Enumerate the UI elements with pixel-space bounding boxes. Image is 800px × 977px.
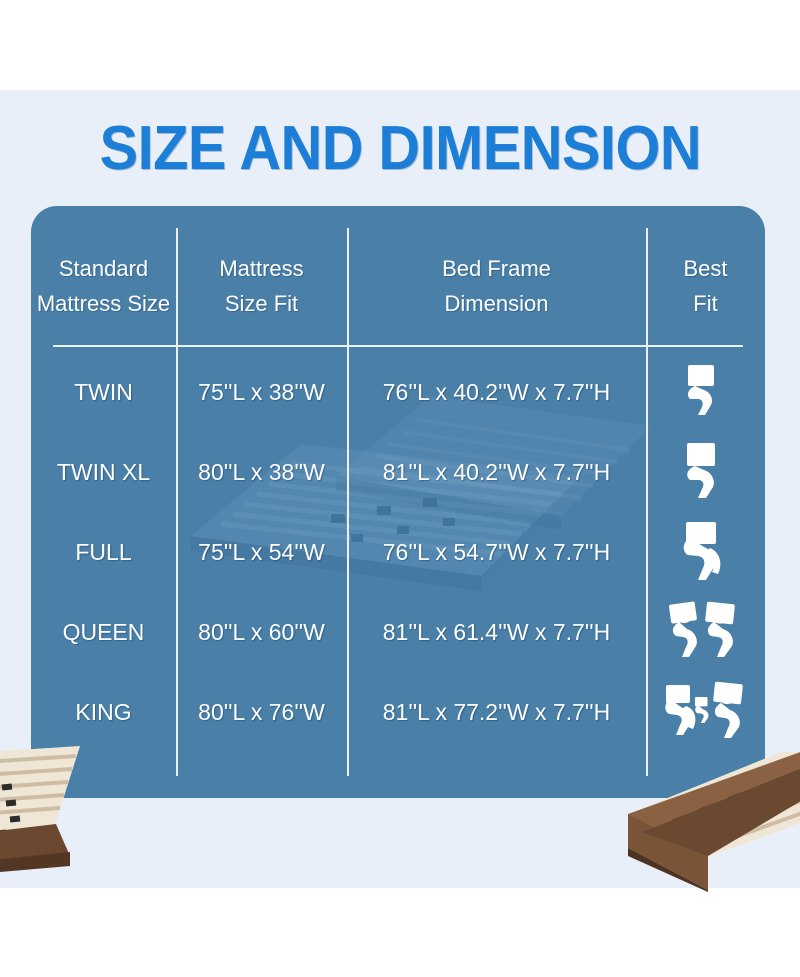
cell-mattress-size-fit: 75''L x 38''W xyxy=(176,379,347,406)
column-header-line1: Bed Frame xyxy=(349,252,644,286)
page-title: SIZE AND DIMENSION xyxy=(99,113,700,184)
column-header-line1: Standard xyxy=(33,252,174,286)
page-title-container: SIZE AND DIMENSION xyxy=(0,108,800,188)
column-header-line2: Fit xyxy=(648,287,763,321)
cell-mattress-size-fit: 80''L x 38''W xyxy=(176,459,347,486)
one-sleeper-icon xyxy=(664,361,748,423)
column-header-line1: Best xyxy=(648,252,763,286)
table-row: TWIN XL 80''L x 38''W 81''L x 40.2''W x … xyxy=(31,432,765,512)
cell-best-fit xyxy=(646,681,765,743)
cell-mattress-size-fit: 75''L x 54''W xyxy=(176,539,347,566)
size-chart-panel: Standard Mattress Size Mattress Size Fit… xyxy=(31,206,765,798)
cell-best-fit xyxy=(646,601,765,663)
one-sleeper-icon xyxy=(664,521,748,583)
cell-mattress-size: KING xyxy=(31,699,176,726)
header-divider xyxy=(53,345,743,347)
two-sleepers-icon xyxy=(664,601,748,663)
table-row: KING 80''L x 76''W 81''L x 77.2''W x 7.7… xyxy=(31,672,765,752)
cell-bed-frame-dimension: 76''L x 40.2''W x 7.7''H xyxy=(347,379,646,406)
column-header-line2: Dimension xyxy=(349,287,644,321)
column-header-bed-frame-dimension: Bed Frame Dimension xyxy=(347,252,646,320)
column-header-standard-mattress-size: Standard Mattress Size xyxy=(31,252,176,320)
one-sleeper-icon xyxy=(664,441,748,503)
cell-mattress-size-fit: 80''L x 60''W xyxy=(176,619,347,646)
two-sleepers-and-child-icon xyxy=(664,681,748,743)
cell-mattress-size: TWIN XL xyxy=(31,459,176,486)
infographic-page: SIZE AND DIMENSION xyxy=(0,0,800,977)
cell-mattress-size-fit: 80''L x 76''W xyxy=(176,699,347,726)
cell-mattress-size: TWIN xyxy=(31,379,176,406)
column-header-line1: Mattress xyxy=(178,252,345,286)
cell-best-fit xyxy=(646,441,765,503)
column-header-line2: Size Fit xyxy=(178,287,345,321)
table-header-row: Standard Mattress Size Mattress Size Fit… xyxy=(31,228,765,345)
column-header-line2: Mattress Size xyxy=(33,287,174,321)
cell-bed-frame-dimension: 81''L x 40.2''W x 7.7''H xyxy=(347,459,646,486)
column-header-mattress-size-fit: Mattress Size Fit xyxy=(176,252,347,320)
cell-bed-frame-dimension: 76''L x 54.7''W x 7.7''H xyxy=(347,539,646,566)
cell-bed-frame-dimension: 81''L x 61.4''W x 7.7''H xyxy=(347,619,646,646)
column-header-best-fit: Best Fit xyxy=(646,252,765,320)
table-row: TWIN 75''L x 38''W 76''L x 40.2''W x 7.7… xyxy=(31,352,765,432)
cell-best-fit xyxy=(646,521,765,583)
wood-bed-frame-slats-photo xyxy=(0,744,126,874)
cell-mattress-size: FULL xyxy=(31,539,176,566)
size-chart-table: Standard Mattress Size Mattress Size Fit… xyxy=(31,206,765,798)
wood-bed-frame-corner-photo xyxy=(598,752,800,892)
cell-mattress-size: QUEEN xyxy=(31,619,176,646)
table-row: QUEEN 80''L x 60''W 81''L x 61.4''W x 7.… xyxy=(31,592,765,672)
cell-bed-frame-dimension: 81''L x 77.2''W x 7.7''H xyxy=(347,699,646,726)
cell-best-fit xyxy=(646,361,765,423)
table-row: FULL 75''L x 54''W 76''L x 54.7''W x 7.7… xyxy=(31,512,765,592)
